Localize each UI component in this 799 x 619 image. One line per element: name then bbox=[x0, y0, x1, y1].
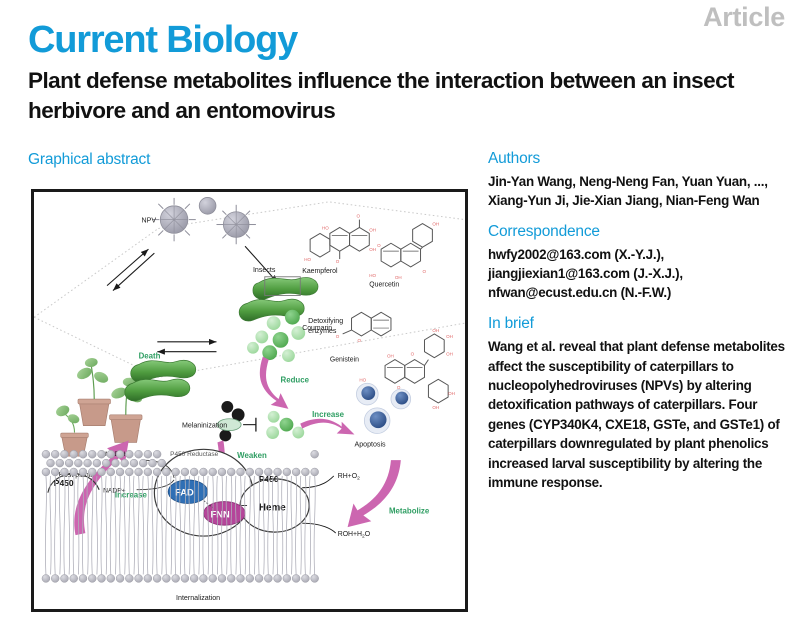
svg-text:O: O bbox=[397, 385, 401, 390]
death-larvae-group bbox=[125, 360, 196, 401]
article-type-tag: Article bbox=[703, 2, 785, 33]
label-melaninization: Melaninization bbox=[182, 422, 227, 430]
label-quercetin: Quercetin bbox=[369, 282, 399, 289]
label-weaken: Weaken bbox=[237, 451, 267, 460]
label-metabolize: Metabolize bbox=[389, 506, 430, 515]
svg-text:O: O bbox=[357, 338, 361, 343]
svg-text:OH: OH bbox=[446, 352, 453, 357]
correspondence-heading: Correspondence bbox=[488, 223, 788, 241]
label-fad: FAD bbox=[175, 488, 194, 498]
in-brief-heading: In brief bbox=[488, 315, 788, 333]
label-fnn: FNN bbox=[211, 509, 230, 519]
chem-quercetin bbox=[381, 224, 432, 267]
in-brief-block: In brief Wang et al. reveal that plant d… bbox=[488, 315, 788, 493]
label-apoptosis: Apoptosis bbox=[354, 440, 386, 448]
authors-list: Jin-Yan Wang, Neng-Neng Fan, Yuan Yuan, … bbox=[488, 172, 788, 210]
label-npv: NPV bbox=[142, 217, 157, 225]
chem-coumarin-atoms: OO bbox=[336, 334, 362, 343]
svg-text:O: O bbox=[336, 334, 340, 339]
correspondence-block: Correspondence hwfy2002@163.com (X.-Y.J.… bbox=[488, 223, 788, 302]
svg-text:OH: OH bbox=[369, 247, 376, 252]
journal-title: Current Biology bbox=[28, 21, 297, 59]
svg-text:O: O bbox=[356, 214, 360, 219]
svg-text:HO: HO bbox=[304, 257, 311, 262]
arrow-increase-apoptosis bbox=[300, 419, 354, 435]
svg-text:OH: OH bbox=[448, 391, 455, 396]
in-brief-text: Wang et al. reveal that plant defense me… bbox=[488, 337, 788, 493]
svg-text:O: O bbox=[423, 269, 427, 274]
label-substrate-in: RH+O2 bbox=[338, 473, 360, 482]
page-title: Plant defense metabolites influence the … bbox=[28, 66, 773, 126]
label-coumarin: Coumarin bbox=[302, 325, 332, 332]
label-p450-left: P450 bbox=[54, 478, 74, 488]
label-reduce: Reduce bbox=[281, 375, 310, 384]
svg-text:OH: OH bbox=[369, 227, 376, 232]
svg-text:O: O bbox=[411, 352, 415, 357]
chem-kaempferol bbox=[310, 220, 369, 259]
svg-text:OH: OH bbox=[432, 222, 439, 227]
arrow-metabolize bbox=[348, 460, 401, 527]
apoptosis-cells-group bbox=[356, 383, 410, 433]
svg-text:HO: HO bbox=[359, 377, 366, 382]
svg-text:OH: OH bbox=[432, 328, 439, 333]
svg-text:OH: OH bbox=[395, 275, 402, 280]
svg-text:O: O bbox=[336, 259, 340, 264]
svg-text:OH: OH bbox=[387, 354, 394, 359]
chem-coumarin bbox=[343, 312, 391, 336]
authors-block: Authors Jin-Yan Wang, Neng-Neng Fan, Yua… bbox=[488, 150, 788, 210]
insect-larvae-group bbox=[239, 277, 318, 321]
label-genistein: Genistein bbox=[330, 357, 359, 364]
svg-text:OH: OH bbox=[446, 334, 453, 339]
label-p450-reductase: P450 Reductase bbox=[170, 451, 218, 458]
svg-text:HO: HO bbox=[322, 225, 329, 230]
svg-text:O: O bbox=[377, 243, 381, 248]
correspondence-emails[interactable]: hwfy2002@163.com (X.-Y.J.), jiangjiexian… bbox=[488, 245, 788, 302]
label-substrate-out: ROH+H2O bbox=[338, 531, 371, 540]
svg-text:HO: HO bbox=[369, 273, 376, 278]
svg-text:OH: OH bbox=[432, 405, 439, 410]
authors-heading: Authors bbox=[488, 150, 788, 168]
label-internalization: Internalization bbox=[176, 594, 220, 602]
label-insects: Insects bbox=[253, 266, 276, 274]
label-death: Death bbox=[139, 352, 161, 361]
graphical-abstract-figure: NPV bbox=[31, 189, 468, 612]
plant-insect-exchange-arrows bbox=[157, 342, 216, 352]
label-detoxifying-enzymes-line1: Detoxifying bbox=[308, 317, 343, 325]
label-increase-apoptosis: Increase bbox=[312, 410, 345, 419]
label-nadp-plus: NADP+ bbox=[103, 488, 126, 495]
label-kaempferol: Kaempferol bbox=[302, 268, 338, 275]
enzyme-cluster-center bbox=[266, 411, 304, 439]
graphical-abstract-heading: Graphical abstract bbox=[28, 151, 150, 169]
chem-quercetin-atoms: OHO HOOHO bbox=[369, 222, 439, 280]
